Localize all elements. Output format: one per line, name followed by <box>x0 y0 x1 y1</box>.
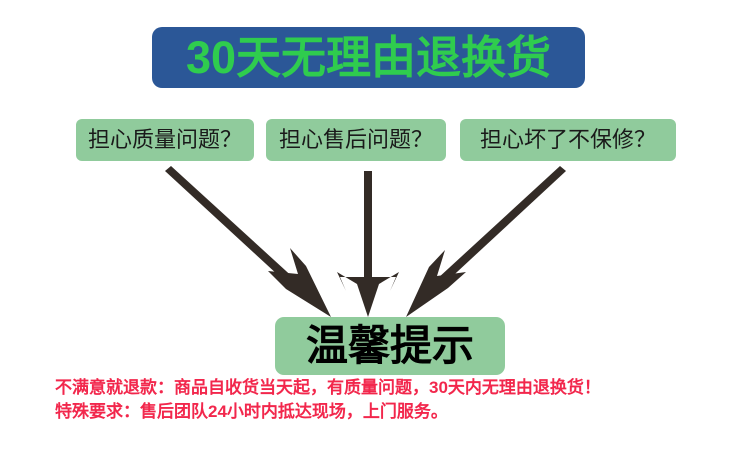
footnotes: 不满意就退款：商品自收货当天起，有质量问题，30天内无理由退换货！ 特殊要求：售… <box>55 376 715 424</box>
conclusion-box: 温馨提示 <box>275 317 505 375</box>
footnote-refund-policy: 不满意就退款：商品自收货当天起，有质量问题，30天内无理由退换货！ <box>55 376 715 400</box>
question-box-warranty: 担心坏了不保修？ <box>460 119 676 161</box>
promo-poster: 30天无理由退换货 担心质量问题？ 担心售后问题？ 担心坏了不保修？ 温馨提示 … <box>0 0 750 454</box>
headline-banner: 30天无理由退换货 <box>152 27 585 88</box>
question-label: 担心质量问题？ <box>88 129 242 151</box>
question-label: 担心坏了不保修？ <box>480 129 656 151</box>
question-box-after-sales: 担心售后问题？ <box>266 119 446 161</box>
footnote-special-requirement: 特殊要求：售后团队24小时内抵达现场，上门服务。 <box>55 400 715 424</box>
arrow-left-icon <box>165 166 331 317</box>
conclusion-text: 温馨提示 <box>306 325 474 367</box>
question-box-quality: 担心质量问题？ <box>76 119 254 161</box>
question-label: 担心售后问题？ <box>279 129 433 151</box>
arrow-middle-icon <box>337 171 399 317</box>
headline-text: 30天无理由退换货 <box>186 35 551 80</box>
arrow-right-icon <box>406 166 566 317</box>
